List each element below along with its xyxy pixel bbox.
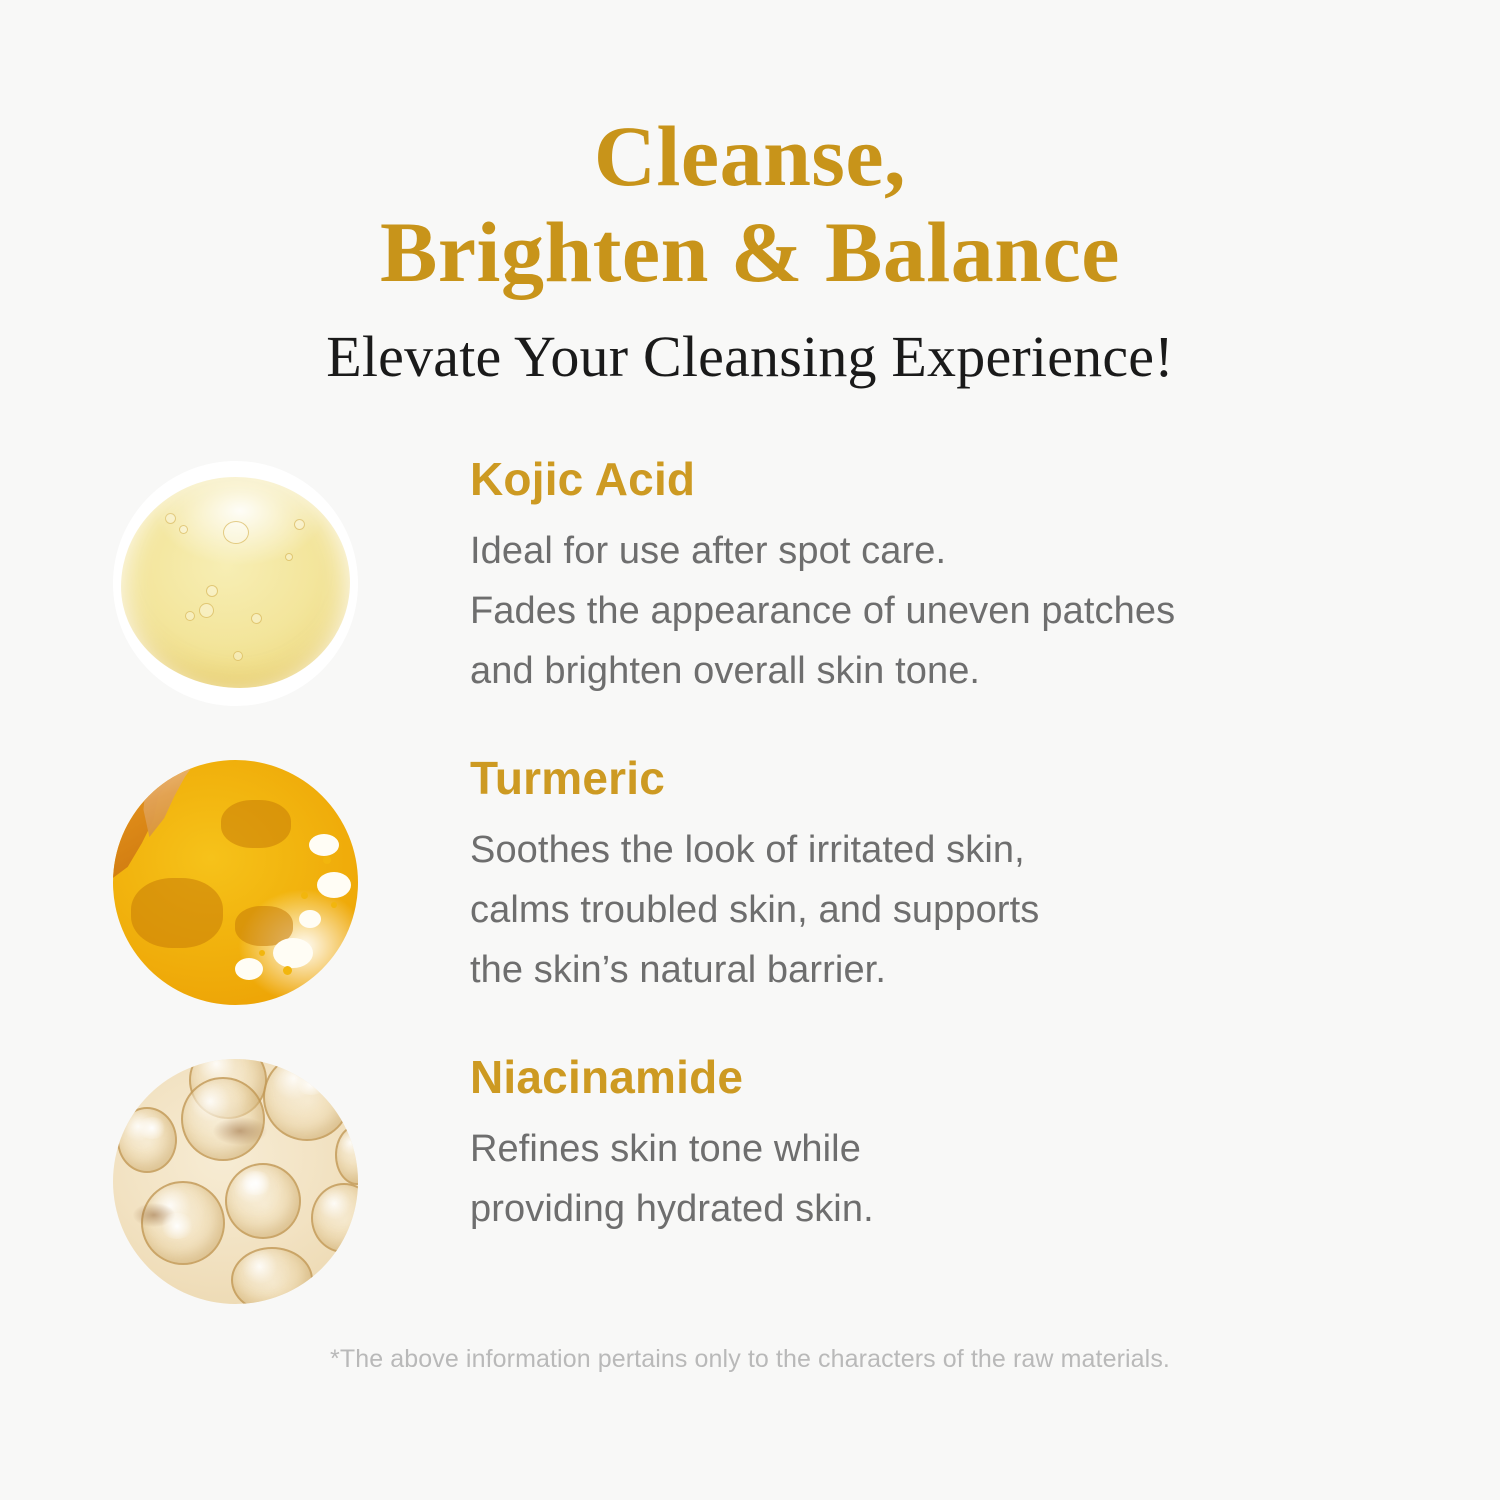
capsule-sphere xyxy=(263,1059,351,1141)
powder-speck xyxy=(323,856,331,864)
disclaimer-footnote: *The above information pertains only to … xyxy=(0,1345,1500,1374)
description-line: Ideal for use after spot care. xyxy=(470,521,1500,581)
capsule-highlight xyxy=(137,1117,167,1139)
ingredient-item-niacinamide: Niacinamide Refines skin tone while prov… xyxy=(0,1053,1500,1304)
kojic-acid-gel-drop-image xyxy=(113,461,358,706)
description-line: the skin’s natural barrier. xyxy=(470,940,1500,1000)
ingredient-text-cell: Kojic Acid Ideal for use after spot care… xyxy=(470,455,1500,701)
gel-bubble xyxy=(285,553,293,561)
capsule-shadow xyxy=(213,1117,267,1145)
ingredient-item-turmeric: Turmeric Soothes the look of irritated s… xyxy=(0,754,1500,1005)
gel-bubble xyxy=(294,519,305,530)
capsule-sphere xyxy=(335,1125,358,1185)
powder-shadow xyxy=(131,878,223,948)
description-line: providing hydrated skin. xyxy=(470,1179,1500,1239)
capsule-sphere xyxy=(231,1247,313,1304)
gel-bubble xyxy=(185,611,195,621)
turmeric-powder-image xyxy=(113,760,358,1005)
ingredient-description-kojic-acid: Ideal for use after spot care. Fades the… xyxy=(470,521,1500,701)
powder-speck xyxy=(283,966,292,975)
capsule-highlight xyxy=(159,1213,195,1239)
ingredient-image-cell xyxy=(0,455,470,706)
description-line: and brighten overall skin tone. xyxy=(470,641,1500,701)
powder-shadow xyxy=(221,800,291,848)
powder-scatter-grain xyxy=(309,834,339,856)
description-line: Fades the appearance of uneven patches xyxy=(470,581,1500,641)
ingredient-text-cell: Turmeric Soothes the look of irritated s… xyxy=(470,754,1500,1000)
ingredient-image-cell xyxy=(0,754,470,1005)
powder-scatter-grain xyxy=(235,958,263,980)
ingredient-name-kojic-acid: Kojic Acid xyxy=(470,455,1500,503)
powder-scatter-grain xyxy=(299,910,321,928)
powder-scatter-grain xyxy=(317,872,351,898)
ingredient-description-niacinamide: Refines skin tone while providing hydrat… xyxy=(470,1119,1500,1239)
ingredient-description-turmeric: Soothes the look of irritated skin, calm… xyxy=(470,820,1500,1000)
ingredient-benefits-poster: Cleanse, Brighten & Balance Elevate Your… xyxy=(0,0,1500,1500)
powder-speck xyxy=(331,902,337,908)
turmeric-root-piece-light xyxy=(141,760,215,844)
ingredient-list: Kojic Acid Ideal for use after spot care… xyxy=(0,455,1500,1304)
powder-scatter-grain xyxy=(273,938,313,968)
ingredient-name-turmeric: Turmeric xyxy=(470,754,1500,802)
capsule-highlight xyxy=(239,1171,273,1195)
gel-bubble xyxy=(223,521,249,544)
gel-bubble xyxy=(165,513,176,524)
description-line: calms troubled skin, and supports xyxy=(470,880,1500,940)
page-subtitle: Elevate Your Cleansing Experience! xyxy=(0,325,1500,389)
gel-bubble xyxy=(206,585,218,597)
ingredient-item-kojic-acid: Kojic Acid Ideal for use after spot care… xyxy=(0,455,1500,706)
ingredient-text-cell: Niacinamide Refines skin tone while prov… xyxy=(470,1053,1500,1239)
capsule-highlight xyxy=(295,1073,327,1095)
page-title-line-1: Cleanse, xyxy=(0,108,1500,204)
gel-bubble xyxy=(179,525,188,534)
niacinamide-capsules-image xyxy=(113,1059,358,1304)
poster-header: Cleanse, Brighten & Balance Elevate Your… xyxy=(0,0,1500,388)
gel-bubble xyxy=(233,651,243,661)
page-title-line-2: Brighten & Balance xyxy=(0,204,1500,300)
ingredient-image-cell xyxy=(0,1053,470,1304)
description-line: Soothes the look of irritated skin, xyxy=(470,820,1500,880)
page-title: Cleanse, Brighten & Balance xyxy=(0,108,1500,301)
description-line: Refines skin tone while xyxy=(470,1119,1500,1179)
ingredient-name-niacinamide: Niacinamide xyxy=(470,1053,1500,1101)
powder-speck xyxy=(301,892,308,899)
capsule-sphere xyxy=(311,1183,358,1253)
gel-bubble xyxy=(251,613,262,624)
gel-bubble xyxy=(199,603,214,618)
powder-speck xyxy=(259,950,265,956)
